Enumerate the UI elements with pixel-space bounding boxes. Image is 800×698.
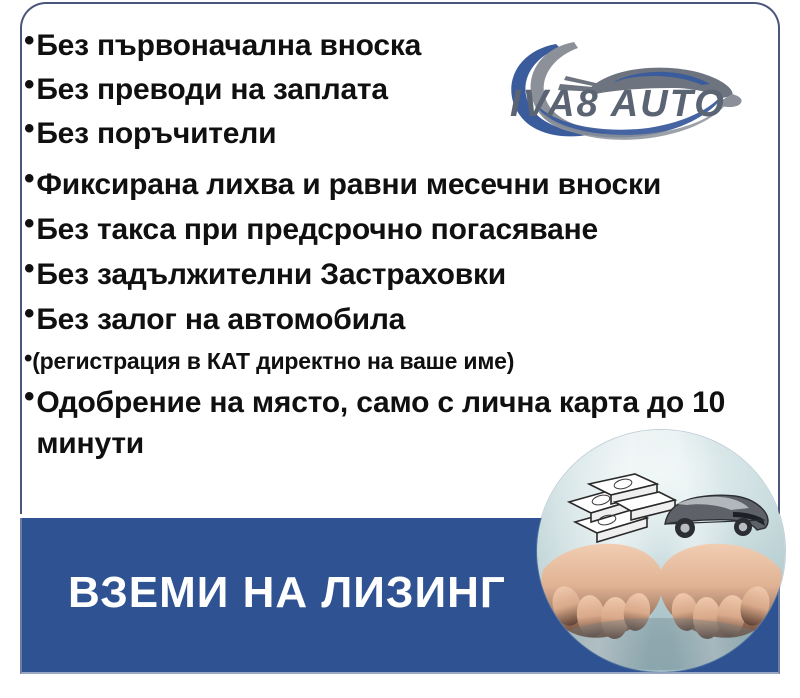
- list-item: • Фиксирана лихва и равни месечни вноски: [24, 164, 780, 209]
- list-item-label: Без задължителни Застраховки: [36, 254, 780, 296]
- bullet-marker-icon: •: [24, 164, 34, 194]
- bullet-marker-icon: •: [24, 382, 34, 412]
- list-item: • (регистрация в КАТ директно на ваше им…: [24, 346, 780, 380]
- list-item-label: Без първоначална вноска: [36, 26, 780, 66]
- bullet-marker-icon: •: [24, 70, 34, 100]
- list-item: • Без такса при предсрочно погасяване: [24, 209, 780, 254]
- car-icon: [665, 495, 768, 538]
- bullet-marker-icon: •: [24, 254, 34, 284]
- list-item: • Без поръчители: [24, 114, 780, 158]
- list-item: • Без задължителни Застраховки: [24, 254, 780, 299]
- bullet-marker-icon: •: [24, 26, 34, 56]
- bullet-marker-icon: •: [24, 299, 34, 329]
- list-item: • Без преводи на заплата: [24, 70, 780, 114]
- list-item-label: Без преводи на заплата: [36, 70, 780, 110]
- leasing-advert-poster: IVA8 AUTO • Без първоначална вноска • Бе…: [0, 0, 800, 698]
- banner-title: ВЗЕМИ НА ЛИЗИНГ: [68, 568, 506, 618]
- bullet-marker-icon: •: [24, 114, 34, 144]
- benefits-list: • Без първоначална вноска • Без преводи …: [24, 26, 780, 458]
- list-item: • Без залог на автомобила: [24, 299, 780, 344]
- cash-stack-icon: [569, 474, 675, 542]
- open-hands: [539, 544, 783, 670]
- bullet-marker-icon: •: [24, 346, 32, 372]
- list-item-label: Без такса при предсрочно погасяване: [36, 209, 780, 251]
- bullet-marker-icon: •: [24, 209, 34, 239]
- list-item: • Без първоначална вноска: [24, 26, 780, 70]
- list-item-label: Фиксирана лихва и равни месечни вноски: [36, 164, 780, 206]
- hands-holding-money-and-car-photo: [537, 430, 785, 672]
- list-item-label: Без поръчители: [36, 114, 780, 154]
- list-item-label: (регистрация в КАТ директно на ваше име): [32, 346, 780, 376]
- list-item-label: Без залог на автомобила: [36, 299, 780, 341]
